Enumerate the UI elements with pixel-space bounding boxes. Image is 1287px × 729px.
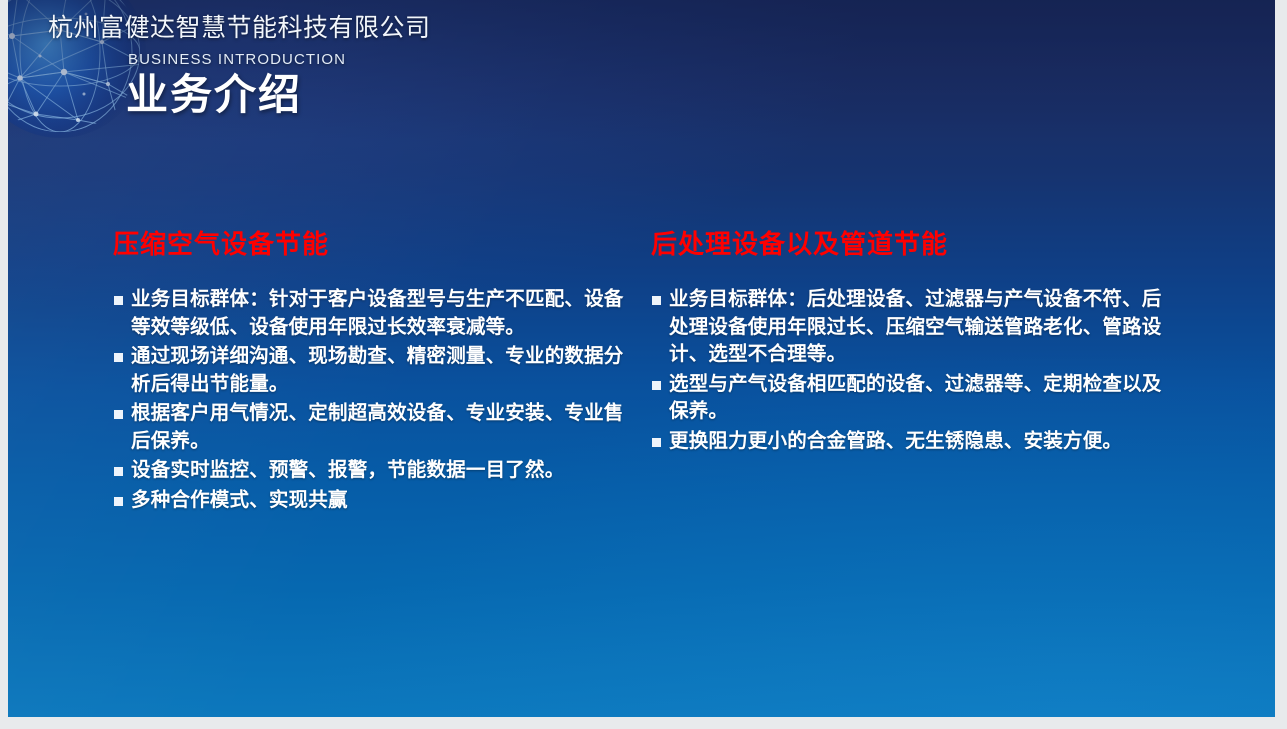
presentation-slide: 杭州富健达智慧节能科技有限公司 BUSINESS INTRODUCTION 业务…: [8, 0, 1275, 717]
list-item: 多种合作模式、实现共赢: [113, 487, 633, 515]
bullet-square-icon: [114, 296, 123, 305]
section-heading: 后处理设备以及管道节能: [651, 228, 1166, 260]
bullet-square-icon: [652, 296, 661, 305]
bullet-square-icon: [114, 467, 123, 476]
bullet-square-icon: [114, 353, 123, 362]
list-item-text: 更换阻力更小的合金管路、无生锈隐患、安装方便。: [669, 430, 1122, 452]
list-item: 根据客户用气情况、定制超高效设备、专业安装、专业售后保养。: [113, 400, 633, 455]
list-item: 业务目标群体：后处理设备、过滤器与产气设备不符、后处理设备使用年限过长、压缩空气…: [651, 286, 1166, 369]
list-item: 通过现场详细沟通、现场勘查、精密测量、专业的数据分析后得出节能量。: [113, 343, 633, 398]
list-item: 设备实时监控、预警、报警，节能数据一目了然。: [113, 457, 633, 485]
page-title: 业务介绍: [126, 70, 302, 120]
list-item-text: 根据客户用气情况、定制超高效设备、专业安装、专业售后保养。: [131, 402, 624, 452]
list-item-text: 业务目标群体：针对于客户设备型号与生产不匹配、设备等效等级低、设备使用年限过长效…: [131, 288, 624, 338]
bullet-square-icon: [114, 497, 123, 506]
list-item-text: 通过现场详细沟通、现场勘查、精密测量、专业的数据分析后得出节能量。: [131, 345, 624, 395]
bullet-square-icon: [114, 410, 123, 419]
bullet-square-icon: [652, 381, 661, 390]
list-item-text: 多种合作模式、实现共赢: [131, 489, 348, 511]
list-item-text: 选型与产气设备相匹配的设备、过滤器等、定期检查以及保养。: [669, 373, 1162, 423]
list-item-text: 设备实时监控、预警、报警，节能数据一目了然。: [131, 459, 564, 481]
list-item: 业务目标群体：针对于客户设备型号与生产不匹配、设备等效等级低、设备使用年限过长效…: [113, 286, 633, 341]
section-heading: 压缩空气设备节能: [113, 228, 633, 260]
bullet-list: 业务目标群体：针对于客户设备型号与生产不匹配、设备等效等级低、设备使用年限过长效…: [113, 286, 633, 514]
list-item-text: 业务目标群体：后处理设备、过滤器与产气设备不符、后处理设备使用年限过长、压缩空气…: [669, 288, 1162, 365]
column-compressed-air-equipment: 压缩空气设备节能 业务目标群体：针对于客户设备型号与生产不匹配、设备等效等级低、…: [113, 228, 633, 516]
company-name: 杭州富健达智慧节能科技有限公司: [48, 13, 431, 43]
bullet-list: 业务目标群体：后处理设备、过滤器与产气设备不符、后处理设备使用年限过长、压缩空气…: [651, 286, 1166, 455]
section-eyebrow-label: BUSINESS INTRODUCTION: [128, 50, 346, 70]
list-item: 选型与产气设备相匹配的设备、过滤器等、定期检查以及保养。: [651, 371, 1166, 426]
column-post-processing-pipeline: 后处理设备以及管道节能 业务目标群体：后处理设备、过滤器与产气设备不符、后处理设…: [651, 228, 1166, 457]
bullet-square-icon: [652, 438, 661, 447]
list-item: 更换阻力更小的合金管路、无生锈隐患、安装方便。: [651, 428, 1166, 456]
